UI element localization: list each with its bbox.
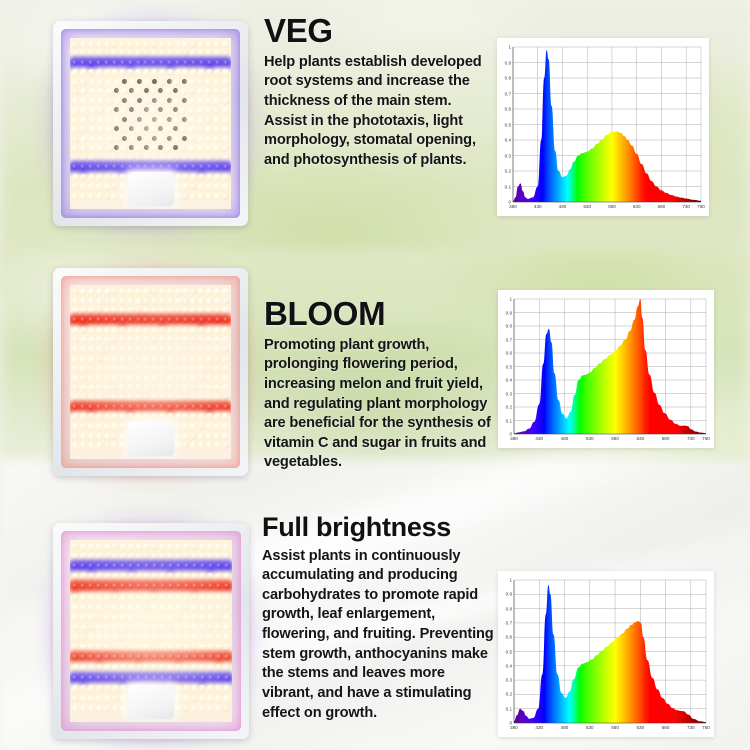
led (72, 442, 79, 449)
led (175, 634, 182, 641)
led (97, 145, 104, 152)
led (175, 336, 182, 343)
x-axis-tick-label: 380 (509, 204, 517, 209)
led (119, 384, 126, 391)
led (120, 543, 127, 550)
y-axis-tick-label: 0.6 (497, 107, 511, 112)
led (175, 573, 182, 580)
led (120, 614, 127, 621)
led-row (70, 69, 231, 76)
led (120, 695, 127, 702)
led (72, 553, 79, 560)
led (222, 69, 229, 76)
led (207, 685, 214, 692)
led (151, 614, 158, 621)
led (198, 288, 205, 295)
led (222, 183, 229, 190)
led (104, 433, 111, 440)
led (214, 41, 221, 48)
led (80, 594, 87, 601)
y-axis-tick-label: 0.7 (497, 91, 511, 96)
led (215, 543, 222, 550)
y-axis-tick-label: 1 (497, 45, 511, 50)
led (143, 356, 150, 363)
led (111, 384, 118, 391)
led-row (70, 298, 231, 305)
led (111, 174, 118, 181)
led (104, 664, 111, 671)
led (127, 356, 134, 363)
led (175, 174, 182, 181)
led (128, 594, 135, 601)
led (104, 573, 111, 580)
led (80, 50, 87, 57)
led (72, 346, 79, 353)
led (128, 634, 135, 641)
led-row (70, 288, 231, 295)
y-axis-tick-label: 0.7 (498, 337, 512, 342)
led (175, 664, 182, 671)
led (159, 594, 166, 601)
led (96, 384, 103, 391)
led (143, 69, 150, 76)
led (214, 193, 221, 200)
led (182, 98, 187, 103)
led (97, 126, 104, 133)
led (119, 336, 126, 343)
led (143, 573, 150, 580)
led (167, 136, 172, 141)
led (111, 375, 118, 382)
led (144, 145, 149, 150)
led-row (70, 624, 232, 631)
led (167, 50, 174, 57)
led (207, 705, 214, 712)
led (197, 126, 204, 133)
led (215, 553, 222, 560)
led (72, 413, 79, 420)
led (167, 553, 174, 560)
led (135, 394, 142, 401)
led (175, 433, 182, 440)
led (104, 384, 111, 391)
led (143, 594, 150, 601)
led (182, 136, 187, 141)
led (122, 136, 127, 141)
led (89, 98, 96, 105)
led (127, 375, 134, 382)
led (119, 442, 126, 449)
led (213, 107, 220, 114)
led-row (70, 634, 232, 641)
led (198, 394, 205, 401)
led (159, 41, 166, 48)
led (175, 594, 182, 601)
led (222, 88, 229, 95)
led (222, 107, 229, 114)
led (104, 298, 111, 305)
x-axis-tick-label: 430 (535, 436, 543, 441)
bloom-heading: BLOOM (264, 297, 492, 331)
led (88, 685, 95, 692)
led (182, 298, 189, 305)
led (96, 327, 103, 334)
led (182, 307, 189, 314)
led (104, 41, 111, 48)
led (80, 624, 87, 631)
led (167, 41, 174, 48)
y-axis-tick-label: 0.8 (498, 324, 512, 329)
led (182, 365, 189, 372)
y-axis-tick-label: 0.5 (497, 122, 511, 127)
led (96, 50, 103, 57)
led (222, 356, 229, 363)
led (127, 69, 134, 76)
led (135, 307, 142, 314)
x-axis-tick-label: 680 (662, 436, 670, 441)
led (88, 394, 95, 401)
led (191, 573, 198, 580)
led (72, 375, 79, 382)
led (188, 136, 195, 143)
led (152, 136, 157, 141)
led (215, 573, 222, 580)
led-row (70, 384, 231, 391)
led (167, 394, 174, 401)
led (111, 336, 118, 343)
led (151, 307, 158, 314)
led (167, 664, 174, 671)
led (143, 624, 150, 631)
led (104, 413, 111, 420)
led (72, 88, 79, 95)
red-led-stripe (70, 581, 232, 593)
led (175, 375, 182, 382)
led-board (70, 38, 231, 209)
led (151, 553, 158, 560)
led (175, 298, 182, 305)
led (137, 136, 142, 141)
led (114, 117, 121, 124)
led (143, 375, 150, 382)
led (104, 336, 111, 343)
led (111, 394, 118, 401)
led-row (70, 41, 231, 48)
led (135, 298, 142, 305)
led (119, 413, 126, 420)
led (72, 136, 79, 143)
led (143, 604, 150, 611)
led (104, 553, 111, 560)
led (190, 174, 197, 181)
led (144, 126, 149, 131)
led-row (70, 614, 232, 621)
x-axis-tick-label: 430 (534, 204, 542, 209)
led (214, 346, 221, 353)
led (114, 79, 121, 86)
led (191, 614, 198, 621)
led (159, 664, 166, 671)
y-axis-tick-label: 0.6 (498, 351, 512, 356)
y-axis-tick-label: 0.8 (498, 606, 512, 611)
red-led-stripe (70, 652, 232, 664)
led (88, 433, 95, 440)
led (182, 394, 189, 401)
led (222, 327, 229, 334)
led (205, 98, 212, 105)
led-row (70, 543, 232, 550)
led (122, 79, 127, 84)
led (222, 336, 229, 343)
spectrum-plot (498, 290, 714, 448)
led (111, 346, 118, 353)
led (191, 664, 198, 671)
led (215, 634, 222, 641)
led (207, 614, 214, 621)
led-row (70, 136, 231, 143)
x-axis-tick-label: 730 (682, 204, 690, 209)
led (119, 155, 126, 162)
led (199, 695, 206, 702)
led (96, 155, 103, 162)
led (205, 88, 212, 95)
led (72, 604, 79, 611)
led (111, 193, 118, 200)
led (96, 298, 103, 305)
led (143, 644, 150, 651)
led (136, 573, 143, 580)
led (199, 553, 206, 560)
led (173, 107, 178, 112)
led (135, 50, 142, 57)
y-axis-tick-label: 0.3 (498, 678, 512, 683)
led (198, 69, 205, 76)
led (144, 98, 151, 105)
led (96, 193, 103, 200)
led (213, 126, 220, 133)
led (167, 117, 172, 122)
led (188, 145, 195, 152)
led (173, 117, 180, 124)
led (88, 614, 95, 621)
red-led-stripe (70, 402, 231, 414)
led (190, 433, 197, 440)
led (144, 136, 151, 143)
led (199, 685, 206, 692)
led (111, 288, 118, 295)
led (127, 336, 134, 343)
led (222, 117, 229, 124)
led (206, 433, 213, 440)
led (96, 433, 103, 440)
led (111, 365, 118, 372)
led (72, 614, 79, 621)
led (199, 634, 206, 641)
led (104, 174, 111, 181)
led (88, 624, 95, 631)
led (112, 685, 119, 692)
led (213, 117, 220, 124)
led (173, 88, 178, 93)
led (159, 50, 166, 57)
led (175, 624, 182, 631)
led (88, 442, 95, 449)
led (128, 614, 135, 621)
led (72, 155, 79, 162)
led (122, 117, 127, 122)
led (159, 298, 166, 305)
led (80, 375, 87, 382)
led (89, 117, 96, 124)
led (104, 193, 111, 200)
led (80, 336, 87, 343)
led (119, 193, 126, 200)
led (88, 346, 95, 353)
led (175, 155, 182, 162)
led (72, 41, 79, 48)
led (158, 79, 165, 86)
led (119, 346, 126, 353)
led (97, 79, 104, 86)
led (222, 79, 229, 86)
led (112, 664, 119, 671)
led (104, 634, 111, 641)
led (165, 145, 172, 152)
led (182, 336, 189, 343)
led (159, 346, 166, 353)
led (135, 384, 142, 391)
led (119, 41, 126, 48)
led (112, 543, 119, 550)
led (182, 155, 189, 162)
led (127, 327, 134, 334)
led (206, 307, 213, 314)
led (127, 298, 134, 305)
y-axis-tick-label: 0.1 (498, 418, 512, 423)
led (104, 346, 111, 353)
led (129, 79, 136, 86)
led (190, 183, 197, 190)
led (120, 705, 127, 712)
chart-plot-area: 00.10.20.30.40.50.60.70.80.9138043048053… (498, 571, 714, 737)
led (143, 50, 150, 57)
led (190, 327, 197, 334)
led (112, 604, 119, 611)
led (143, 543, 150, 550)
led (214, 433, 221, 440)
led (214, 288, 221, 295)
led (183, 685, 190, 692)
red-led-stripe (70, 315, 231, 327)
led-board (70, 285, 231, 459)
led (206, 442, 213, 449)
led (135, 88, 142, 95)
led (151, 594, 158, 601)
led (159, 327, 166, 334)
led (111, 327, 118, 334)
led (159, 288, 166, 295)
led (80, 644, 87, 651)
y-axis-tick-label: 0.9 (497, 60, 511, 65)
y-axis-tick-label: 0.3 (497, 153, 511, 158)
led-panel-veg (53, 21, 248, 226)
led (207, 543, 214, 550)
led (206, 298, 213, 305)
x-axis-tick-label: 680 (658, 204, 666, 209)
led (151, 336, 158, 343)
led (175, 394, 182, 401)
led (106, 79, 113, 86)
led (88, 423, 95, 430)
led (128, 553, 135, 560)
led (190, 375, 197, 382)
driver-box (128, 172, 174, 206)
led (97, 107, 104, 114)
led-row (70, 107, 231, 114)
y-axis-tick-label: 0.4 (498, 663, 512, 668)
led (152, 117, 157, 122)
led (135, 107, 142, 114)
x-axis-tick-label: 760 (702, 725, 710, 730)
led (190, 69, 197, 76)
led (151, 327, 158, 334)
led (72, 644, 79, 651)
led (175, 553, 182, 560)
x-axis-tick-label: 580 (611, 436, 619, 441)
led (190, 41, 197, 48)
led (182, 50, 189, 57)
led (223, 634, 230, 641)
spectrum-area (514, 585, 706, 723)
led (207, 644, 214, 651)
led (167, 644, 174, 651)
led (222, 50, 229, 57)
led (180, 107, 187, 114)
led (159, 573, 166, 580)
driver-box (128, 685, 174, 719)
led (106, 126, 113, 133)
led (191, 634, 198, 641)
led (88, 664, 95, 671)
led (143, 634, 150, 641)
led (128, 573, 135, 580)
led (96, 356, 103, 363)
led (119, 174, 126, 181)
led (167, 413, 174, 420)
led (191, 624, 198, 631)
led (190, 336, 197, 343)
led (80, 634, 87, 641)
led (182, 41, 189, 48)
led (175, 41, 182, 48)
led-row (70, 79, 231, 86)
led (127, 413, 134, 420)
led (198, 183, 205, 190)
led (167, 384, 174, 391)
led (215, 644, 222, 651)
led (120, 685, 127, 692)
led (80, 695, 87, 702)
led (159, 644, 166, 651)
led (112, 695, 119, 702)
led (151, 384, 158, 391)
led (158, 88, 163, 93)
led (215, 705, 222, 712)
led (197, 79, 204, 86)
led-row (70, 50, 231, 57)
led (135, 336, 142, 343)
led (183, 594, 190, 601)
